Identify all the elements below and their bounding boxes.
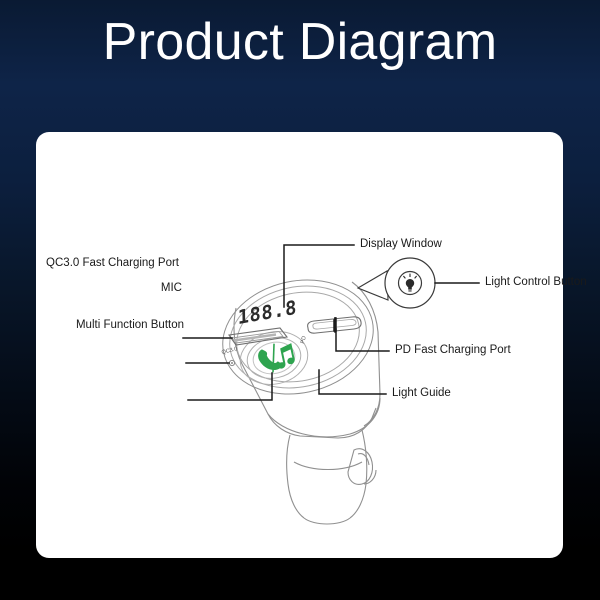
callout-label-multi-function-button: Multi Function Button bbox=[36, 319, 184, 332]
callout-leader-lines bbox=[183, 245, 479, 400]
leader-light-guide bbox=[319, 370, 386, 394]
leader-multi-function-button bbox=[188, 373, 272, 400]
callout-label-display-window: Display Window bbox=[360, 238, 442, 251]
callout-label-light-guide: Light Guide bbox=[392, 387, 451, 400]
diagram-card: 188.8 QC3.0 PD bbox=[36, 132, 563, 558]
product-diagram-page: Product Diagram bbox=[0, 0, 600, 600]
page-title: Product Diagram bbox=[0, 12, 600, 72]
mic-pinhole bbox=[229, 360, 234, 365]
callout-label-light-control-button: Light Control Button bbox=[485, 276, 587, 289]
phone-music-icon[interactable] bbox=[256, 340, 296, 375]
callout-label-pd-fast-charging-port: PD Fast Charging Port bbox=[395, 344, 511, 357]
usb-c-port-mark: PD bbox=[300, 335, 308, 344]
callout-label-qc3-fast-charging-port: QC3.0 Fast Charging Port bbox=[36, 257, 179, 270]
callout-label-mic: MIC bbox=[36, 282, 182, 295]
usb-a-port-mark: QC3.0 bbox=[221, 346, 238, 356]
light-control-button-magnifier bbox=[358, 258, 435, 308]
